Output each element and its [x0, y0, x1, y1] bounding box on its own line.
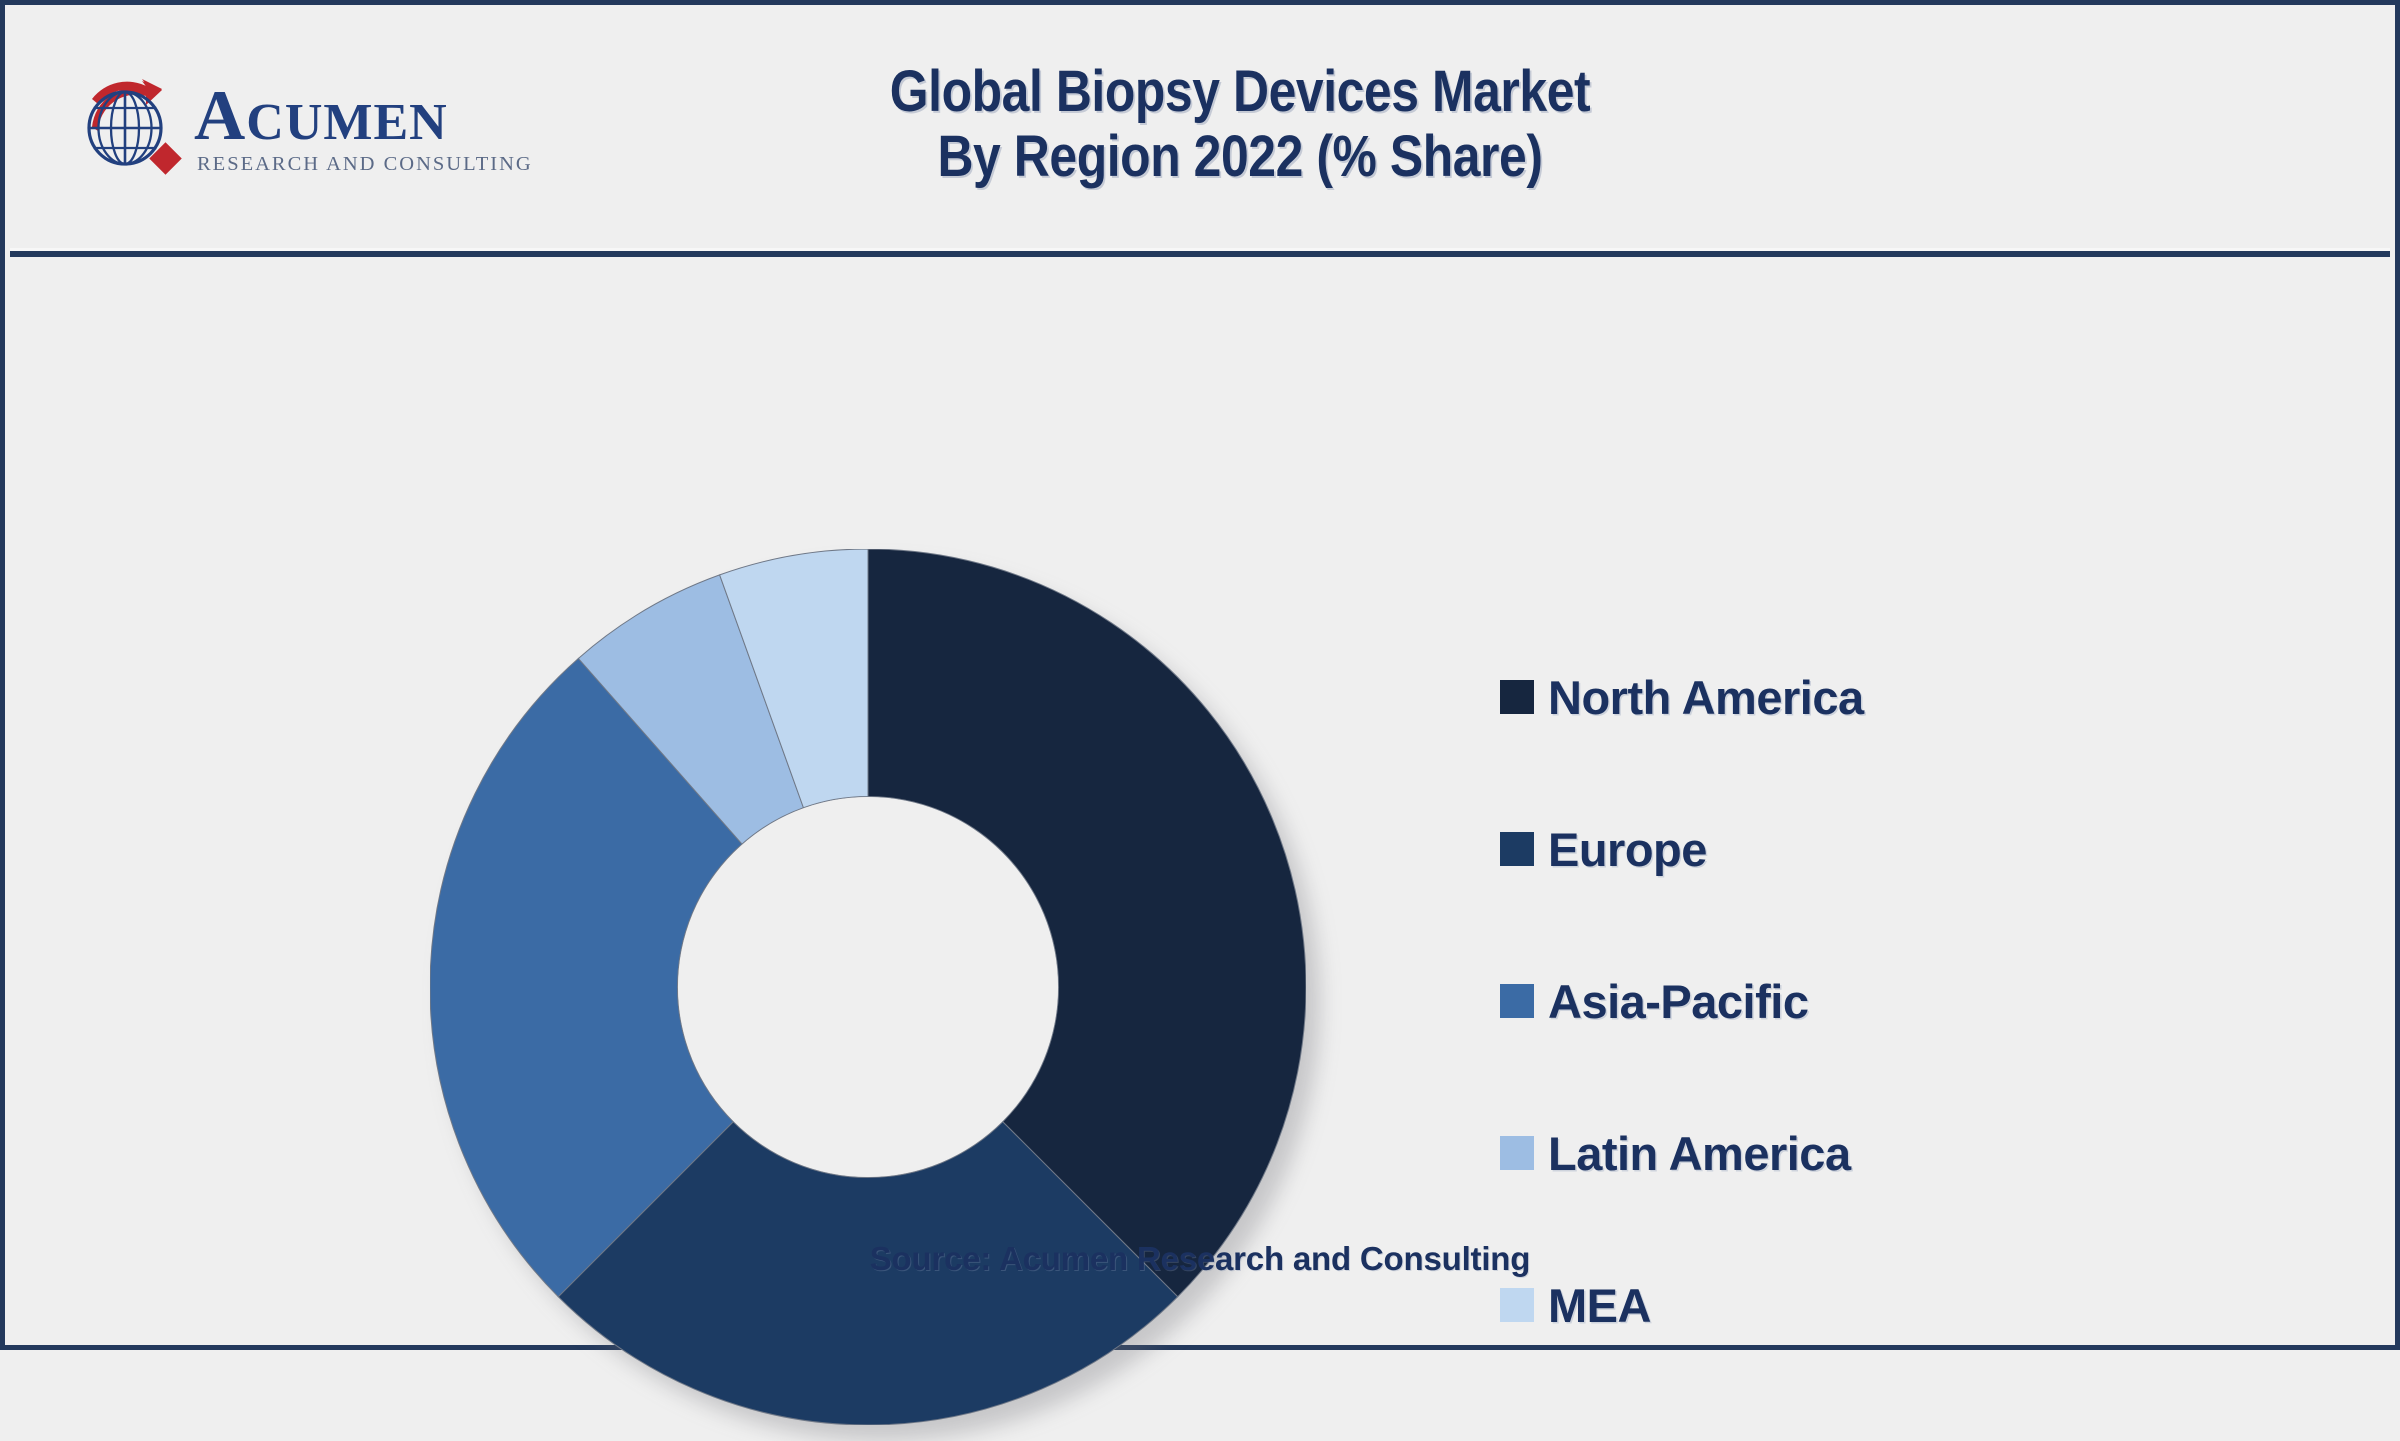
legend-item-label: Europe	[1548, 822, 1707, 877]
acumen-tagline: RESEARCH AND CONSULTING	[197, 153, 533, 176]
acumen-logo: ACUMEN RESEARCH AND CONSULTING	[70, 65, 500, 195]
acumen-wordmark-text: ACUMEN	[194, 84, 533, 149]
acumen-wordmark: ACUMEN RESEARCH AND CONSULTING	[194, 84, 533, 175]
legend-item-latin-america[interactable]: Latin America	[1500, 1103, 2260, 1203]
legend-swatch-icon	[1500, 984, 1534, 1018]
page-title-line-1: Global Biopsy Devices Market	[733, 60, 1748, 125]
chart-frame: ACUMEN RESEARCH AND CONSULTING Global Bi…	[0, 0, 2400, 1350]
legend: North AmericaEuropeAsia-PacificLatin Ame…	[1500, 647, 2260, 1407]
legend-item-label: North America	[1548, 670, 1864, 725]
legend-item-asia-pacific[interactable]: Asia-Pacific	[1500, 951, 2260, 1051]
source-note: Source: Acumen Research and Consulting	[10, 1240, 2390, 1278]
header: ACUMEN RESEARCH AND CONSULTING Global Bi…	[10, 10, 2390, 248]
donut-slice-group	[430, 549, 1306, 1425]
page-title: Global Biopsy Devices Market By Region 2…	[733, 60, 1748, 190]
acumen-wordmark-rest: CUMEN	[246, 94, 447, 151]
legend-swatch-icon	[1500, 680, 1534, 714]
donut-chart	[430, 549, 1306, 1425]
legend-item-label: Asia-Pacific	[1548, 974, 1808, 1029]
legend-swatch-icon	[1500, 1288, 1534, 1322]
donut-chart-svg	[430, 549, 1306, 1425]
chart-area: North AmericaEuropeAsia-PacificLatin Ame…	[10, 257, 2390, 1340]
legend-item-north-america[interactable]: North America	[1500, 647, 2260, 747]
donut-hole	[678, 797, 1058, 1177]
globe-logo-icon	[70, 71, 188, 189]
page-title-line-2: By Region 2022 (% Share)	[733, 125, 1748, 190]
acumen-wordmark-initial: A	[194, 77, 246, 155]
legend-item-label: MEA	[1548, 1278, 1651, 1333]
legend-item-europe[interactable]: Europe	[1500, 799, 2260, 899]
legend-swatch-icon	[1500, 832, 1534, 866]
legend-item-label: Latin America	[1548, 1126, 1851, 1181]
legend-swatch-icon	[1500, 1136, 1534, 1170]
header-divider	[10, 248, 2390, 257]
